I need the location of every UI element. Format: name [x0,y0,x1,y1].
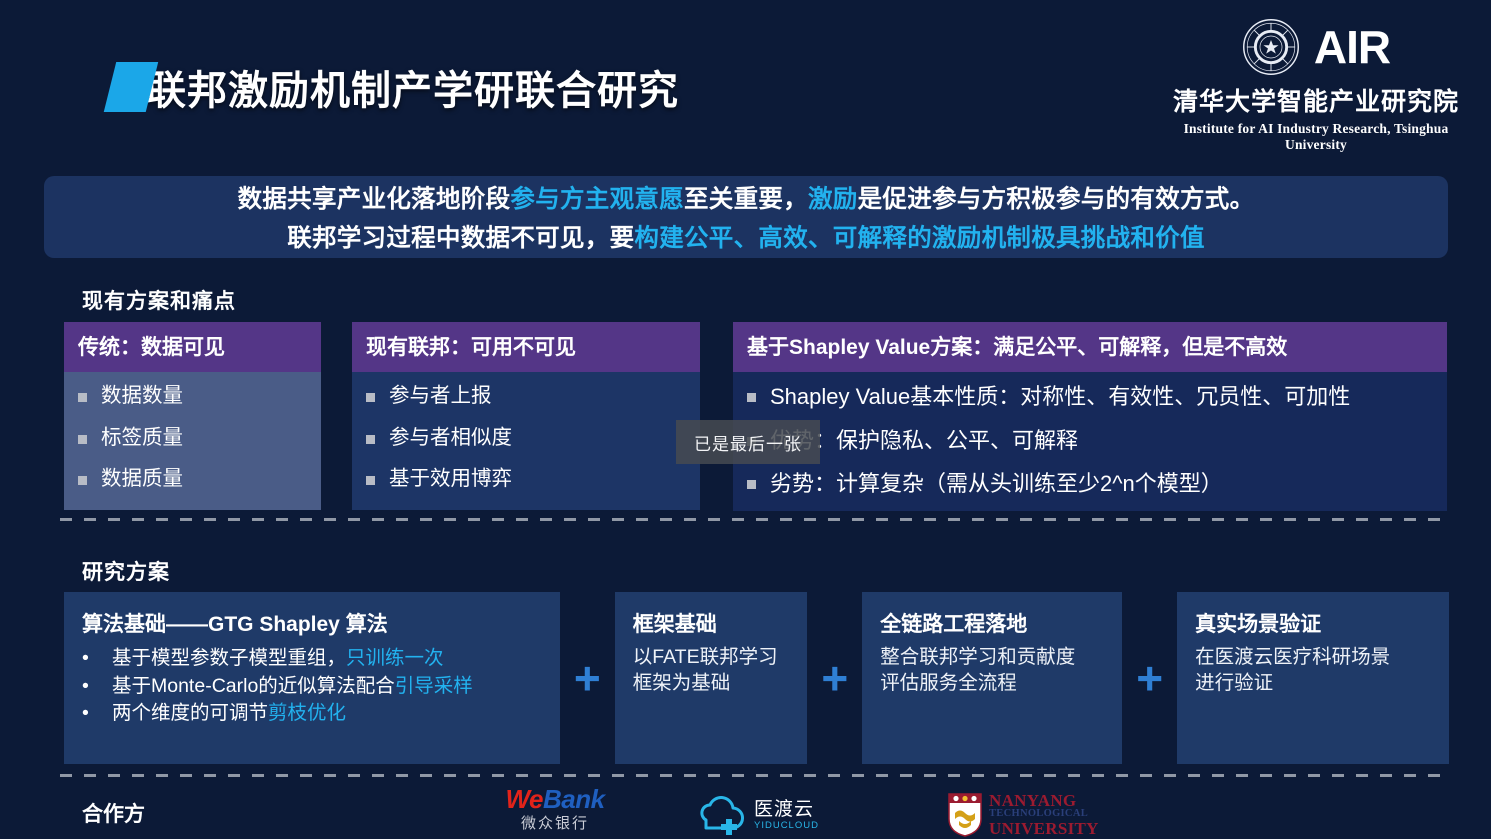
text-segment-0: 联邦学习过程中数据不可见，要 [287,225,634,252]
dot-bullet-icon: • [82,700,112,728]
problem-card-traditional: 传统：数据可见 数据数量标签质量数据质量 [64,322,321,510]
page-title: 联邦激励机制产学研联合研究 [110,58,679,116]
problem-bullet-text: 参与者相似度 [389,424,512,452]
yiducloud-logo: 医渡云 YIDUCLOUD [694,786,844,839]
research-card-framework: 框架基础 以FATE联邦学习 框架为基础 [615,592,808,764]
problem-card-shapley-value: 基于Shapley Value方案：满足公平、可解释，但是不高效 Shapley… [733,322,1447,511]
research-card-title: 算法基础——GTG Shapley 算法 [82,608,542,638]
plus-connector-2: + [807,655,862,701]
problem-card-title: 现有联邦：可用不可见 [352,322,700,372]
webank-word-bank: Bank [543,784,605,814]
text-segment-1: 参与方主观意愿 [510,186,684,213]
research-bullet: •两个维度的可调节剪枝优化 [82,700,542,728]
problem-card-title: 基于Shapley Value方案：满足公平、可解释，但是不高效 [733,322,1447,372]
research-card-title: 全链路工程落地 [880,608,1104,638]
problem-bullet: 数据质量 [78,465,307,493]
yiducloud-text: 医渡云 YIDUCLOUD [754,800,819,832]
key-message-banner: 数据共享产业化落地阶段参与方主观意愿至关重要，激励是促进参与方积极参与的有效方式… [44,176,1448,258]
logo-name-en: Institute for AI Industry Research, Tsin… [1161,121,1471,153]
research-card-subtitle: 以FATE联邦学习 框架为基础 [633,645,790,697]
problem-card-existing-federated: 现有联邦：可用不可见 参与者上报参与者相似度基于效用博弈 [352,322,700,510]
problem-bullet: 优势：保护隐私、公平、可解释 [747,426,1433,456]
logo-name-cn: 清华大学智能产业研究院 [1161,82,1471,118]
page-title-text: 联邦激励机制产学研联合研究 [146,58,679,116]
problem-bullet-text: 基于效用博弈 [389,465,512,493]
cloud-plus-icon [694,796,746,836]
square-bullet-icon [747,393,756,402]
text-segment-1: 构建公平、高效、可解释的激励机制极具挑战和价值 [634,225,1204,252]
partners-section: 合作方 WeBank 微众银行 医渡云 YIDUCLOUD NANYANG TE [0,786,1491,839]
dot-bullet-icon: • [82,673,112,701]
square-bullet-icon [366,435,375,444]
square-bullet-icon [366,393,375,402]
text-segment-0: 基于模型参数子模型重组， [112,647,346,669]
text-segment-0: 基于Monte-Carlo的近似算法配合 [112,675,395,697]
square-bullet-icon [747,480,756,489]
research-card-title: 框架基础 [633,608,790,638]
problem-card-bullets: 参与者上报参与者相似度基于效用博弈 [352,372,700,510]
text-segment-2: 至关重要， [684,186,808,213]
research-bullet-text: 两个维度的可调节剪枝优化 [112,700,346,728]
problem-card-bullets: Shapley Value基本性质：对称性、有效性、冗员性、可加性优势：保护隐私… [733,372,1447,511]
section-label-research: 研究方案 [82,556,170,586]
square-bullet-icon [78,476,87,485]
plus-connector-3: + [1122,655,1177,701]
problem-bullet-text: 数据数量 [101,382,183,410]
ntu-logo: NANYANG TECHNOLOGICAL UNIVERSITY [948,786,1108,839]
webank-name-cn: 微众银行 [490,812,620,833]
yiducloud-name-en: YIDUCLOUD [754,820,819,831]
divider-problems-research [60,518,1450,521]
research-card-subtitle: 在医渡云医疗科研场景 进行验证 [1195,645,1431,697]
text-segment-0: 数据共享产业化落地阶段 [238,186,511,213]
plus-connector-1: + [560,655,615,701]
ntu-line-3: UNIVERSITY [989,820,1099,837]
webank-logo: WeBank 微众银行 [490,786,620,839]
text-segment-0: 两个维度的可调节 [112,702,268,724]
research-card-algorithm: 算法基础——GTG Shapley 算法 •基于模型参数子模型重组，只训练一次•… [64,592,560,764]
toast-message: 已是最后一张 [694,430,802,455]
dot-bullet-icon: • [82,645,112,673]
section-label-partners: 合作方 [82,798,145,828]
problem-bullet: 劣势：计算复杂（需从头训练至少2^n个模型） [747,469,1433,499]
research-bullet: •基于Monte-Carlo的近似算法配合引导采样 [82,673,542,701]
problem-card-title: 传统：数据可见 [64,322,321,372]
problem-bullet: Shapley Value基本性质：对称性、有效性、冗员性、可加性 [747,382,1433,412]
research-card-validation: 真实场景验证 在医渡云医疗科研场景 进行验证 [1177,592,1449,764]
text-segment-1: 引导采样 [395,675,473,697]
problem-bullet-text: 参与者上报 [389,382,492,410]
square-bullet-icon [78,393,87,402]
ntu-line-1: NANYANG [989,792,1099,809]
research-cards-row: 算法基础——GTG Shapley 算法 •基于模型参数子模型重组，只训练一次•… [64,592,1449,764]
text-segment-3: 激励 [808,186,858,213]
webank-wordmark: WeBank [490,786,620,813]
problem-card-bullets: 数据数量标签质量数据质量 [64,372,321,510]
problem-bullet: 标签质量 [78,424,307,452]
problem-bullet: 数据数量 [78,382,307,410]
ntu-crest-icon [948,793,982,837]
research-card-title: 真实场景验证 [1195,608,1431,638]
air-tsinghua-logo: AIR 清华大学智能产业研究院 Institute for AI Industr… [1161,16,1471,153]
section-label-problems: 现有方案和痛点 [82,285,236,315]
square-bullet-icon [78,435,87,444]
problem-bullet-text: Shapley Value基本性质：对称性、有效性、冗员性、可加性 [770,382,1350,412]
square-bullet-icon [366,476,375,485]
logo-top-row: AIR [1161,16,1471,78]
toast-notification: 已是最后一张 [676,420,820,464]
banner-line-1: 数据共享产业化落地阶段参与方主观意愿至关重要，激励是促进参与方积极参与的有效方式… [238,180,1255,215]
ntu-wordmark: NANYANG TECHNOLOGICAL UNIVERSITY [989,792,1099,837]
text-segment-1: 剪枝优化 [268,702,346,724]
air-wordmark: AIR [1314,24,1390,70]
problem-bullet-text: 数据质量 [101,465,183,493]
research-bullet-text: 基于模型参数子模型重组，只训练一次 [112,645,444,673]
research-card-subtitle: 整合联邦学习和贡献度 评估服务全流程 [880,645,1104,697]
research-bullet: •基于模型参数子模型重组，只训练一次 [82,645,542,673]
text-segment-1: 只训练一次 [346,647,444,669]
webank-word-we: We [505,784,543,814]
divider-research-partners [60,774,1450,777]
yiducloud-name-cn: 医渡云 [754,800,819,821]
text-segment-4: 是促进参与方积极参与的有效方式。 [858,186,1255,213]
problem-bullet: 参与者相似度 [366,424,686,452]
problem-bullet: 基于效用博弈 [366,465,686,493]
research-card-bullets: •基于模型参数子模型重组，只训练一次•基于Monte-Carlo的近似算法配合引… [82,645,542,728]
banner-line-2: 联邦学习过程中数据不可见，要构建公平、高效、可解释的激励机制极具挑战和价值 [287,219,1205,254]
research-card-engineering: 全链路工程落地 整合联邦学习和贡献度 评估服务全流程 [862,592,1122,764]
tsinghua-seal-icon [1242,18,1300,76]
problem-bullet-text: 劣势：计算复杂（需从头训练至少2^n个模型） [770,469,1223,499]
problem-bullet-text: 标签质量 [101,424,183,452]
problem-bullet: 参与者上报 [366,382,686,410]
research-bullet-text: 基于Monte-Carlo的近似算法配合引导采样 [112,673,473,701]
slide-header: 联邦激励机制产学研联合研究 AIR 清华大学智能产业研究院 Institute … [0,0,1491,160]
